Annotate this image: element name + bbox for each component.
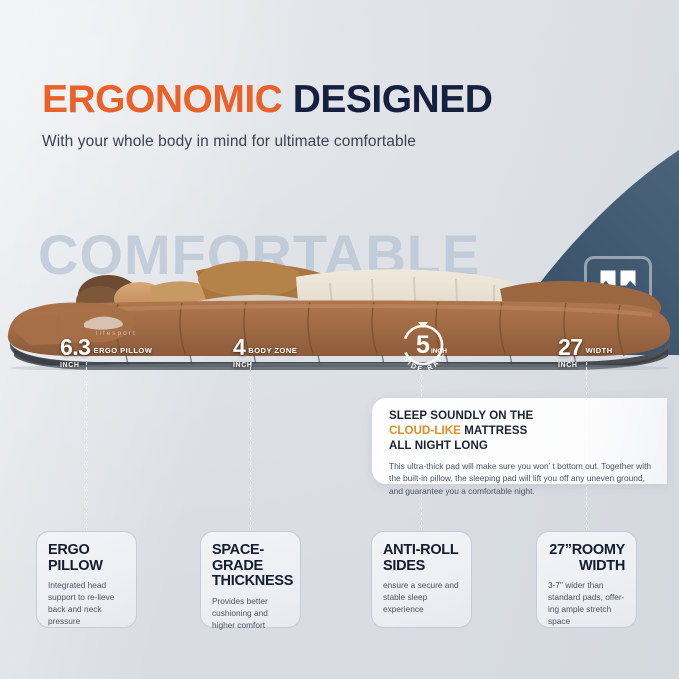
infographic-page: ERGONOMIC DESIGNED With your whole body …: [0, 0, 679, 679]
callout-tag: ERGO PILLOW: [93, 346, 152, 355]
feature-cards: ERGO PILLOW Integrated head support to r…: [0, 531, 679, 636]
title-line-2: PILLOW: [48, 559, 127, 575]
callout-value: 27: [558, 334, 583, 360]
info-title-line2-rest: MATTRESS: [461, 425, 528, 437]
feature-card-body: Integrated head support to re-lieve back…: [48, 579, 127, 627]
info-panel-body: This ultra-thick pad will make sure you …: [389, 460, 653, 498]
title-line-2: GRADE: [212, 559, 291, 575]
info-title-accent: CLOUD-LIKE: [389, 425, 461, 437]
feature-card-anti-roll-sides[interactable]: ANTI-ROLL SIDES ensure a secure and stab…: [371, 531, 472, 628]
page-title: ERGONOMIC DESIGNED: [42, 80, 642, 119]
connector-line-2: [250, 362, 251, 530]
callout-value: 4: [233, 334, 245, 360]
info-title-line1: SLEEP SOUNDLY ON THE: [389, 410, 533, 422]
feature-card-ergo-pillow[interactable]: ERGO PILLOW Integrated head support to r…: [36, 531, 137, 628]
headline-accent: ERGONOMIC: [42, 78, 282, 121]
info-title-line3: ALL NIGHT LONG: [389, 440, 488, 452]
title-line-1: ANTI-ROLL: [383, 543, 462, 559]
callout-unit: INCH: [60, 362, 152, 369]
feature-card-body: Provides better cushioning and higher co…: [212, 595, 291, 631]
info-callout-panel: SLEEP SOUNDLY ON THE CLOUD-LIKE MATTRESS…: [372, 398, 667, 484]
callout-tag: WIDTH: [586, 346, 613, 355]
feature-card-title: SPACE- GRADE THICKNESS: [212, 543, 291, 590]
feature-card-body: ensure a secure and stable sleep experie…: [383, 579, 462, 615]
title-line-2: WIDTH: [548, 559, 627, 575]
subheading: With your whole body in mind for ultimat…: [42, 133, 642, 151]
title-line-2: SIDES: [383, 559, 462, 575]
callout-side-rails: 5 INCH SIDE RAILS: [396, 320, 450, 374]
feature-card-body: 3-7" wider than standard pads, offer-ing…: [548, 579, 627, 627]
feature-card-title: ANTI-ROLL SIDES: [383, 543, 462, 574]
callout-tag: BODY ZONE: [248, 346, 297, 355]
header: ERGONOMIC DESIGNED With your whole body …: [42, 80, 642, 151]
connector-line-1: [86, 362, 87, 530]
title-line-1: ERGO: [48, 543, 127, 559]
feature-card-roomy-width[interactable]: 27”ROOMY WIDTH 3-7" wider than standard …: [536, 531, 637, 628]
feature-card-space-grade-thickness[interactable]: SPACE- GRADE THICKNESS Provides better c…: [200, 531, 301, 628]
callout-value: 6.3: [60, 334, 90, 360]
callout-unit: INCH: [233, 362, 297, 369]
info-panel-title: SLEEP SOUNDLY ON THE CLOUD-LIKE MATTRESS…: [389, 409, 653, 455]
callout-ergo-pillow: 6.3ERGO PILLOW INCH: [60, 336, 152, 369]
side-rails-value: 5: [416, 331, 430, 359]
feature-card-title: ERGO PILLOW: [48, 543, 127, 574]
title-line-3: THICKNESS: [212, 574, 291, 590]
headline-dark: DESIGNED: [293, 78, 493, 121]
title-line-1: 27”ROOMY: [548, 543, 627, 559]
feature-card-title: 27”ROOMY WIDTH: [548, 543, 627, 574]
title-line-1: SPACE-: [212, 543, 291, 559]
callout-body-zone: 4BODY ZONE INCH: [233, 336, 297, 369]
